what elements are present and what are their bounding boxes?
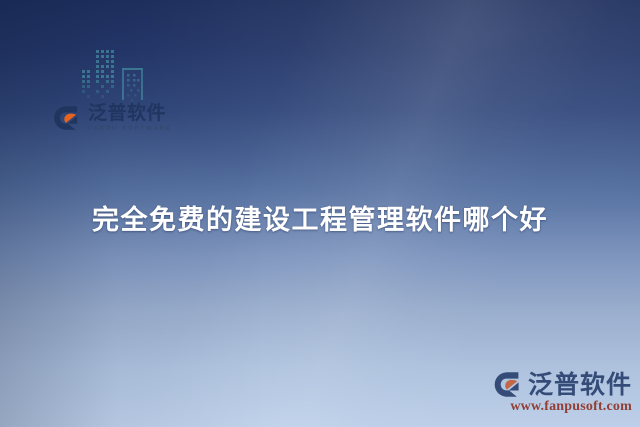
brand-lockup: 泛普软件 FANPU SOFTWARE xyxy=(53,104,172,132)
brand-wordmark: 泛普软件 FANPU SOFTWARE xyxy=(88,104,172,132)
brand-name-en: FANPU SOFTWARE xyxy=(88,126,172,132)
watermark-url: www.fanpusoft.com xyxy=(493,400,632,414)
watermark: 泛普软件 www.fanpusoft.com xyxy=(493,371,632,414)
page-title: 完全免费的建设工程管理软件哪个好 xyxy=(0,198,640,237)
fanpu-swoosh-logo-icon xyxy=(53,105,81,131)
watermark-logo-row: 泛普软件 xyxy=(493,371,632,398)
promo-banner: 泛普软件 FANPU SOFTWARE 完全免费的建设工程管理软件哪个好 泛普软… xyxy=(0,0,640,427)
brand-name-cn: 泛普软件 xyxy=(88,104,172,123)
fanpu-swoosh-logo-icon xyxy=(493,371,523,398)
watermark-name-cn: 泛普软件 xyxy=(528,372,632,397)
pixel-buildings-skyline-icon xyxy=(78,44,156,110)
